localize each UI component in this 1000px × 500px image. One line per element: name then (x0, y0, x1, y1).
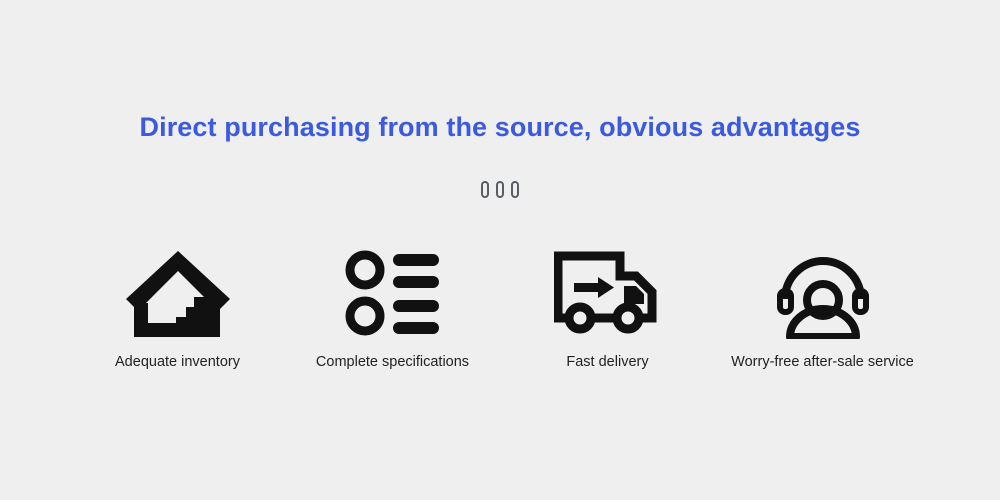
feature-item-service: Worry-free after-sale service (715, 243, 930, 370)
divider-pill-icon (511, 181, 519, 198)
page-title: Direct purchasing from the source, obvio… (0, 112, 1000, 143)
specification-list-icon (343, 243, 443, 343)
warehouse-icon (126, 243, 230, 343)
decorative-divider (0, 181, 1000, 198)
delivery-truck-icon (554, 243, 662, 343)
divider-pill-icon (481, 181, 489, 198)
feature-label: Adequate inventory (115, 354, 240, 370)
feature-item-inventory: Adequate inventory (70, 243, 285, 370)
feature-list: Adequate inventory Compl (0, 243, 1000, 370)
customer-service-headset-icon (776, 243, 870, 343)
promo-banner: Direct purchasing from the source, obvio… (0, 0, 1000, 500)
feature-item-specifications: Complete specifications (285, 243, 500, 370)
feature-label: Worry-free after-sale service (731, 354, 914, 370)
divider-pill-icon (496, 181, 504, 198)
feature-item-delivery: Fast delivery (500, 243, 715, 370)
feature-label: Fast delivery (566, 354, 648, 370)
feature-label: Complete specifications (316, 354, 469, 370)
